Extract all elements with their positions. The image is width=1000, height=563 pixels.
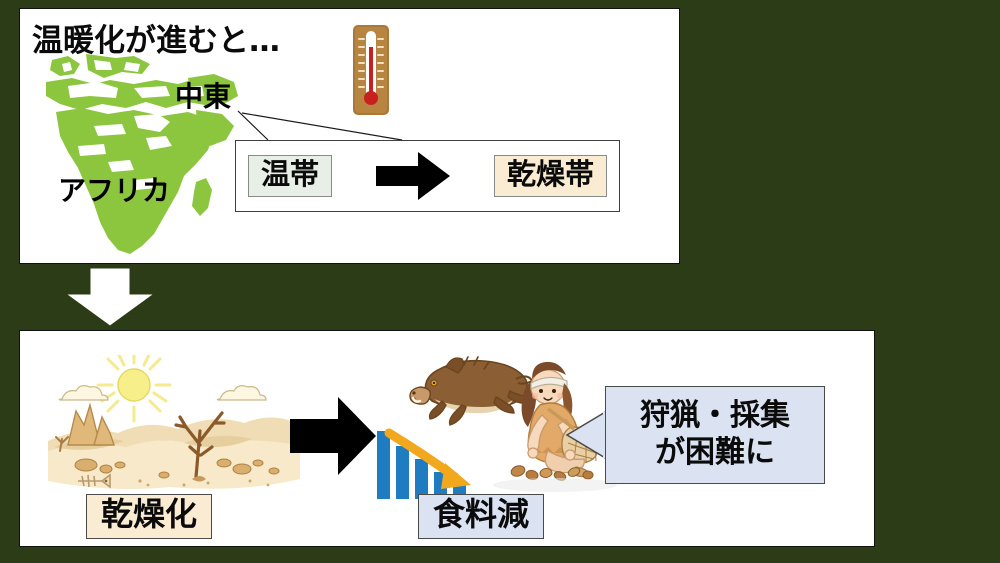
thermometer-icon bbox=[353, 25, 389, 115]
declining-bar-chart bbox=[375, 423, 505, 501]
slide-canvas: 温暖化が進むと… bbox=[0, 0, 1000, 563]
map-label-africa: アフリカ bbox=[58, 169, 170, 209]
right-arrow-icon bbox=[288, 391, 378, 481]
climate-change-box: 温帯 乾燥帯 bbox=[235, 140, 620, 212]
climate-chip-temperate: 温帯 bbox=[248, 155, 332, 196]
climate-chip-arid: 乾燥帯 bbox=[494, 155, 607, 196]
desert-scene-illustration bbox=[44, 355, 304, 495]
label-food-decrease: 食料減 bbox=[418, 494, 544, 539]
bottom-panel: 乾燥化 bbox=[19, 330, 875, 547]
callout-line-2: が困難に bbox=[655, 435, 775, 472]
down-arrow-icon bbox=[62, 268, 158, 326]
callout-bubble: 狩猟・採集 が困難に bbox=[605, 386, 825, 484]
top-panel: 温暖化が進むと… bbox=[19, 8, 680, 264]
right-arrow-icon bbox=[376, 152, 450, 200]
label-aridification: 乾燥化 bbox=[86, 494, 212, 539]
callout-tail-icon bbox=[565, 409, 607, 461]
map-label-middle-east: 中東 bbox=[175, 75, 231, 115]
callout-line-1: 狩猟・採集 bbox=[640, 398, 790, 435]
